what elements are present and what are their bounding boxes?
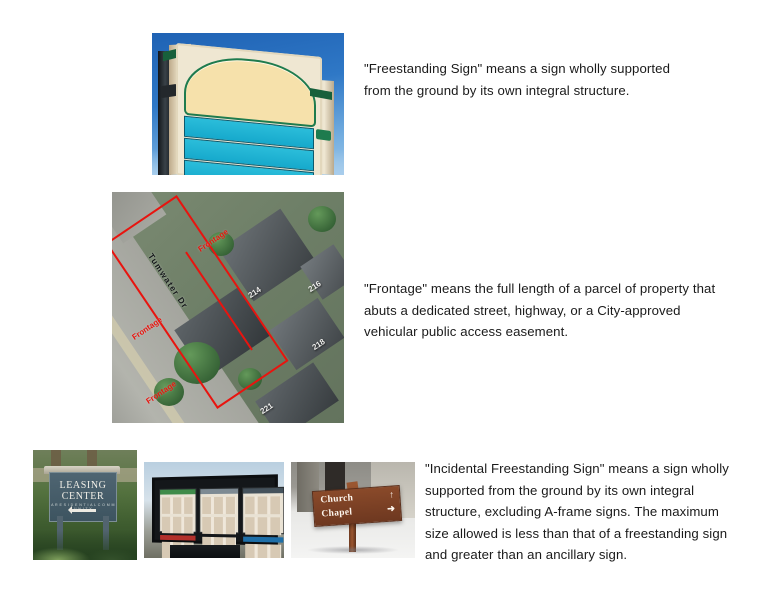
arrow-up-icon: ↑ bbox=[389, 490, 395, 500]
listing-row bbox=[245, 517, 281, 535]
sign-structure-right-bracket bbox=[316, 129, 331, 141]
listing-row bbox=[202, 517, 236, 534]
freestanding-sign-photo bbox=[152, 33, 344, 175]
kiosk-display-panel bbox=[199, 488, 239, 534]
kiosk-base bbox=[170, 545, 240, 558]
shrub-planting bbox=[33, 530, 137, 560]
panel-header-bar bbox=[200, 489, 238, 495]
kiosk-frame bbox=[152, 474, 278, 545]
definition-text: "Incidental Freestanding Sign" means a s… bbox=[425, 458, 733, 566]
tree-canopy bbox=[308, 206, 336, 232]
listing-row bbox=[245, 496, 281, 514]
leasing-center-sign-photo: LEASING CENTER A R E S I D E N T I A L C… bbox=[33, 450, 137, 560]
definition-text: "Freestanding Sign" means a sign wholly … bbox=[364, 58, 694, 101]
leasing-sign-line-1: LEASING bbox=[60, 480, 107, 491]
listing-row bbox=[162, 517, 194, 534]
church-chapel-sign-photo: Church ↑ Chapel ➜ bbox=[291, 462, 415, 558]
kiosk-display-panel bbox=[242, 487, 284, 534]
listing-row bbox=[202, 497, 236, 514]
sign-cabinet bbox=[176, 43, 322, 175]
panel-header-bar bbox=[160, 535, 195, 541]
frontage-aerial-photo: Tumwater Dr Frontage Frontage Frontage 2… bbox=[112, 192, 344, 423]
display-kiosk-photo bbox=[144, 462, 284, 558]
left-arrow-icon bbox=[70, 509, 96, 512]
leasing-sign-text: LEASING CENTER bbox=[50, 480, 116, 502]
leasing-sign-panel: LEASING CENTER A R E S I D E N T I A L C… bbox=[49, 472, 117, 522]
listing-row bbox=[245, 544, 281, 558]
definition-text: "Frontage" means the full length of a pa… bbox=[364, 278, 720, 343]
arrow-right-icon: ➜ bbox=[387, 503, 396, 515]
directional-sign-board: Church ↑ Chapel ➜ bbox=[312, 485, 402, 527]
church-label: Church bbox=[320, 493, 353, 505]
sign-structure-left-bracket bbox=[161, 84, 177, 98]
leasing-sign-line-2: CENTER bbox=[62, 491, 105, 502]
kiosk-display-panel bbox=[159, 488, 196, 532]
sign-shadow bbox=[307, 546, 399, 554]
panel-header-bar bbox=[243, 488, 283, 494]
chapel-label: Chapel bbox=[321, 507, 352, 519]
panel-header-bar bbox=[160, 489, 195, 494]
definition-incidental-freestanding-sign: "Incidental Freestanding Sign" means a s… bbox=[425, 458, 733, 566]
definition-frontage: "Frontage" means the full length of a pa… bbox=[364, 278, 720, 343]
sign-line-chapel: Chapel ➜ bbox=[321, 503, 396, 519]
listing-row bbox=[162, 497, 194, 514]
definition-freestanding-sign: "Freestanding Sign" means a sign wholly … bbox=[364, 58, 694, 101]
panel-header-bar bbox=[243, 537, 283, 543]
document-page: "Freestanding Sign" means a sign wholly … bbox=[0, 0, 776, 600]
